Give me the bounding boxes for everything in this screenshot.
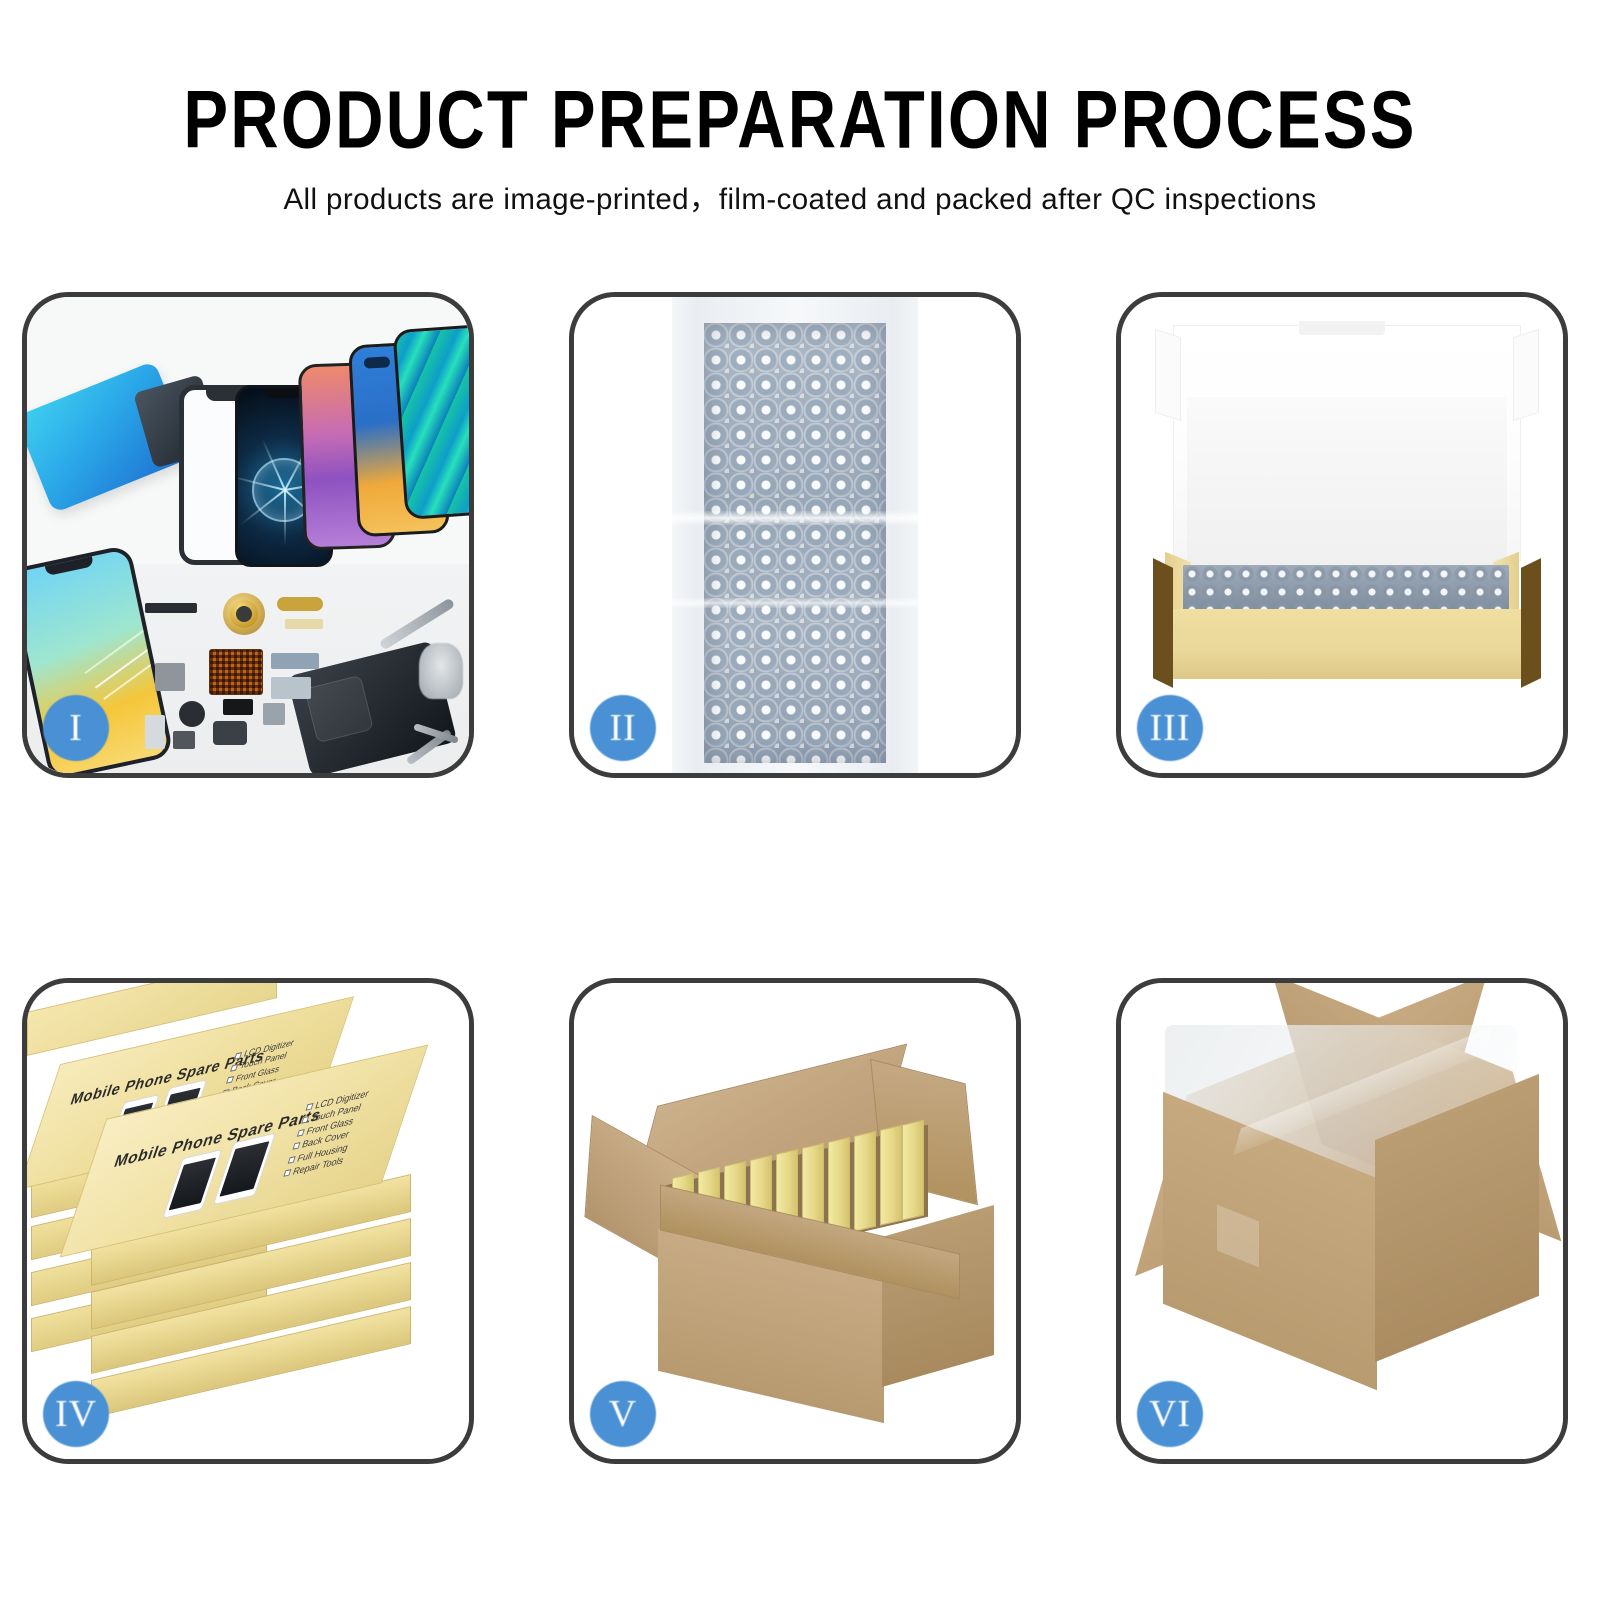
volume-flex-icon (271, 653, 319, 669)
step-badge-5: V (590, 1381, 656, 1447)
step-panel-3[interactable]: III (1116, 292, 1568, 778)
step-badge-1: I (43, 695, 109, 761)
bubble-wrap-texture (704, 323, 886, 763)
step-badge-4: IV (43, 1381, 109, 1447)
ic-chip-icon (209, 649, 263, 695)
adhesive-frame-icon (27, 361, 193, 514)
vibrator-motor-icon (179, 701, 205, 727)
process-step-grid: I II III (22, 292, 1588, 1464)
retail-box-item (854, 1131, 876, 1232)
plastic-bag-icon (672, 297, 918, 773)
page-subtitle: All products are image-printed，film-coat… (0, 176, 1600, 218)
box-inner-liner (1187, 397, 1507, 565)
sim-tray-icon (145, 715, 165, 749)
flex-cable-icon (277, 597, 323, 611)
retail-box-item (880, 1125, 902, 1226)
antenna-flex-icon (173, 731, 195, 749)
retail-box-checklist: LCD Digitizer Touch Panel Front Glass Ba… (282, 1087, 371, 1180)
bag-seam-highlight (672, 511, 918, 525)
teal-screen-phone-icon (392, 324, 469, 520)
step-panel-6[interactable]: VI (1116, 978, 1568, 1464)
step-panel-1[interactable]: I (22, 292, 474, 778)
step-badge-6: VI (1137, 1381, 1203, 1447)
box-front-face (1169, 609, 1525, 679)
bag-seam-highlight-2 (672, 598, 918, 608)
charging-port-icon (213, 721, 247, 745)
page-title: PRODUCT PREPARATION PROCESS (0, 78, 1600, 164)
retail-box-item (902, 1120, 924, 1221)
battery-connector-icon (223, 699, 253, 715)
button-flex-icon (285, 619, 323, 629)
earpiece-speaker-icon (145, 603, 197, 613)
step-panel-4[interactable]: Mobile Phone Spare Parts LCD Digitizer T… (22, 978, 474, 1464)
step-panel-2[interactable]: II (569, 292, 1021, 778)
wireless-charging-coil-icon (223, 593, 265, 635)
retail-box-item (828, 1137, 850, 1238)
loudspeaker-icon (263, 703, 285, 725)
tape-tab-icon (1221, 1369, 1263, 1428)
step-badge-2: II (590, 695, 656, 761)
step-badge-3: III (1137, 695, 1203, 761)
power-flex-icon (271, 677, 311, 699)
camera-module-icon (155, 663, 185, 691)
cleaning-brush-icon (419, 643, 463, 699)
carton-side-face (882, 1205, 994, 1387)
header: PRODUCT PREPARATION PROCESS All products… (0, 0, 1600, 218)
step-panel-5[interactable]: V (569, 978, 1021, 1464)
infographic-page: PRODUCT PREPARATION PROCESS All products… (0, 0, 1600, 1600)
phone-thumbnail-image (162, 1149, 222, 1219)
box-lid-tab-icon (1299, 321, 1385, 335)
bubble-wrapped-item-icon (1183, 565, 1509, 613)
